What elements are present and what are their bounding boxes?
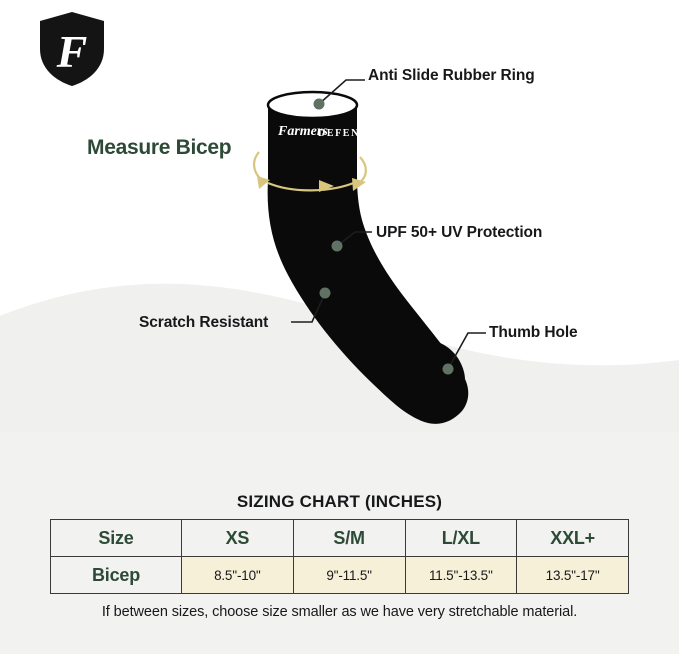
- header-cell-size: Size: [51, 520, 182, 557]
- logo-letter: F: [56, 26, 88, 77]
- callout-label-scratch-resistant: Scratch Resistant: [139, 314, 268, 332]
- table-header-row: Size XS S/M L/XL XXL+: [51, 520, 629, 557]
- product-infographic: F Farmers DEFENSE: [0, 0, 679, 654]
- callout-label-thumb-hole: Thumb Hole: [489, 324, 578, 342]
- callout-label-anti-slide-rubber-ring: Anti Slide Rubber Ring: [368, 67, 535, 85]
- sizing-chart-note: If between sizes, choose size smaller as…: [0, 604, 679, 620]
- header-cell-sm: S/M: [293, 520, 405, 557]
- header-cell-xs: XS: [182, 520, 294, 557]
- sizing-chart-table: Size XS S/M L/XL XXL+ Bicep 8.5''-10'' 9…: [50, 519, 629, 594]
- cell-bicep-lxl: 11.5''-13.5'': [405, 557, 517, 594]
- measure-bicep-label: Measure Bicep: [87, 136, 231, 160]
- header-cell-xxl: XXL+: [517, 520, 629, 557]
- row-label-bicep: Bicep: [51, 557, 182, 594]
- callout-label-upf-uv-protection: UPF 50+ UV Protection: [376, 224, 542, 242]
- cell-bicep-xs: 8.5''-10'': [182, 557, 294, 594]
- shield-logo-icon: F: [30, 5, 114, 93]
- cell-bicep-xxl: 13.5''-17'': [517, 557, 629, 594]
- sizing-chart-title: SIZING CHART (INCHES): [0, 492, 679, 512]
- header-cell-lxl: L/XL: [405, 520, 517, 557]
- cell-bicep-sm: 9''-11.5'': [293, 557, 405, 594]
- table-row: Bicep 8.5''-10'' 9''-11.5'' 11.5''-13.5'…: [51, 557, 629, 594]
